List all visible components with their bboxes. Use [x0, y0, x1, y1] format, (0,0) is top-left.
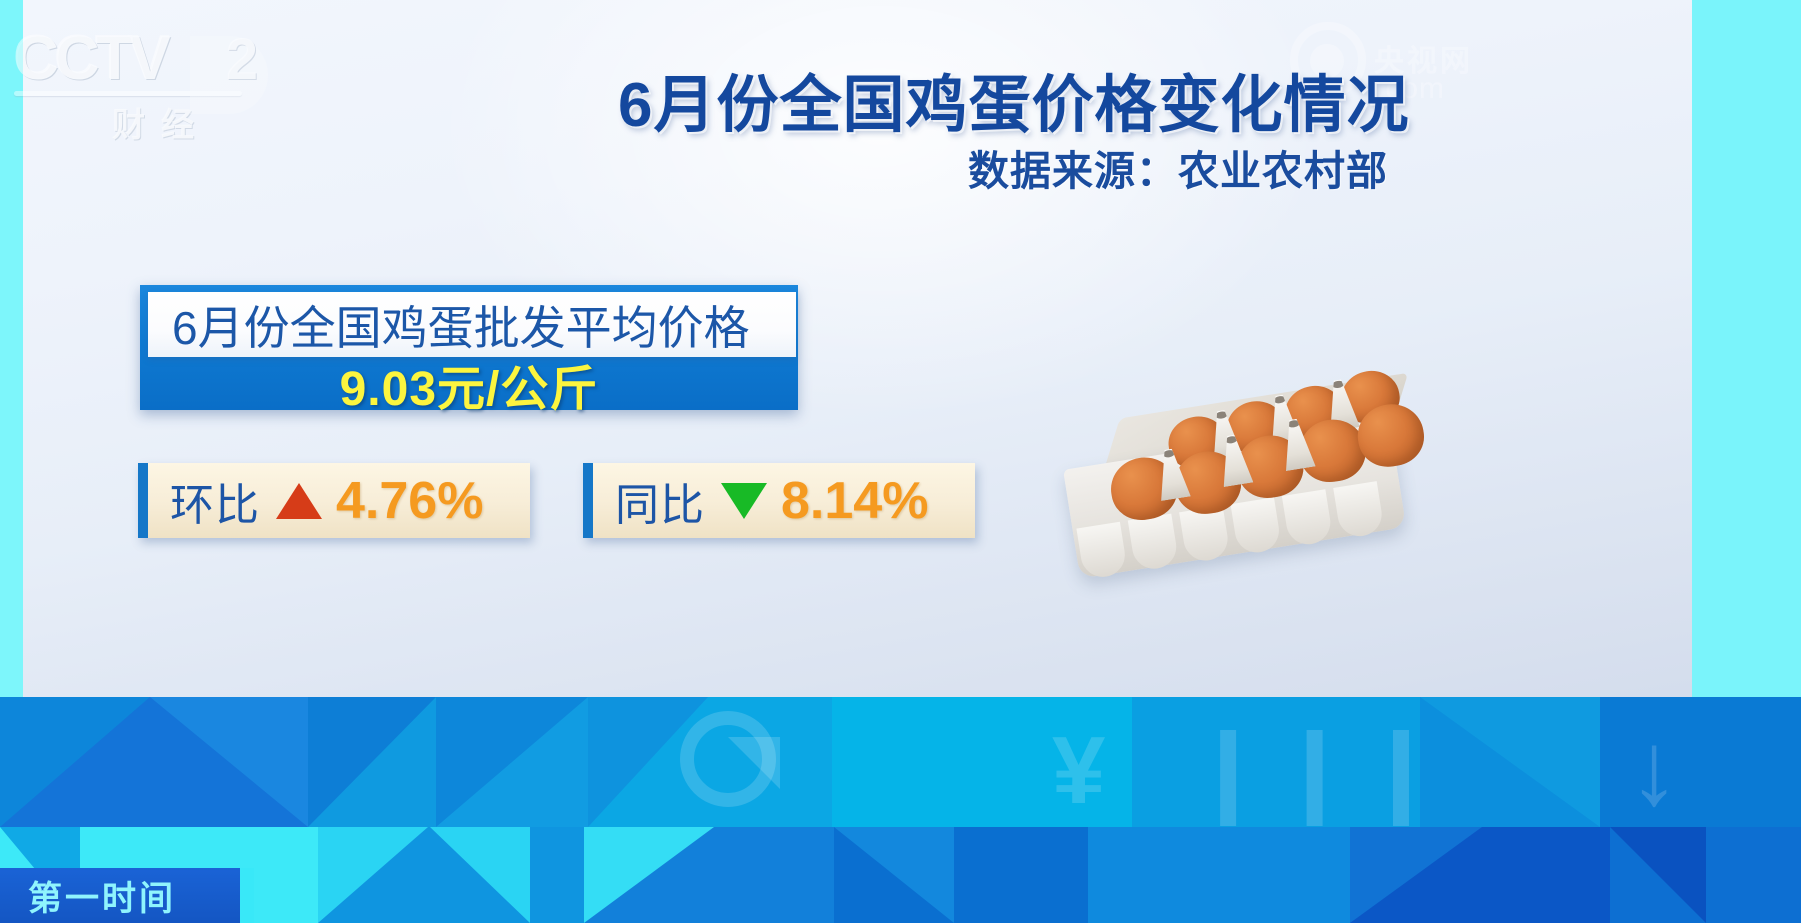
- banner-label-box: 6月份全国鸡蛋批发平均价格: [148, 292, 796, 357]
- program-badge-tab: [240, 868, 254, 923]
- egg-carton-photo: [1048, 315, 1418, 575]
- cctv-channel-number: 2: [226, 26, 258, 93]
- stat-value: 4.76%: [336, 471, 483, 531]
- triangle-up-icon: [276, 483, 322, 519]
- carton-scallop: [1282, 489, 1334, 547]
- program-name-badge: 第一时间: [0, 868, 240, 923]
- data-source-label: 数据来源：农业农村部: [968, 137, 1728, 197]
- carton-scallop: [1076, 522, 1128, 580]
- arrow-down-icon: ↓: [1628, 717, 1680, 821]
- carton-scallop: [1128, 514, 1180, 572]
- average-price-value: 9.03元/公斤: [340, 349, 599, 419]
- bar-chart-icon: ❙❙❙: [1188, 723, 1447, 819]
- stat-box-year-on-year: 同比 8.14%: [583, 463, 975, 538]
- band-triangle: [308, 697, 436, 827]
- bottom-decorative-band: ¥ ❙❙❙ ↓: [0, 697, 1801, 923]
- stat-label: 同比: [615, 469, 705, 533]
- band-triangle: [430, 827, 530, 923]
- carton-scallop: [1179, 505, 1231, 563]
- carton-group: [1054, 360, 1418, 591]
- band-triangle: [436, 697, 588, 827]
- stat-label: 环比: [170, 469, 260, 533]
- cctv2-finance-logo: CCTV 2 财经: [14, 30, 264, 148]
- band-triangle: [0, 697, 150, 827]
- band-triangle: [318, 827, 428, 923]
- band-lower-row: [0, 827, 1801, 923]
- banner-value-box: 9.03元/公斤: [140, 357, 798, 410]
- broadcast-graphic-stage: CCTV 2 财经 央视网 .com 6月份全国鸡蛋价格变化情况 数据来源：农业…: [0, 0, 1801, 923]
- band-triangle: [1610, 827, 1706, 923]
- band-triangle: [150, 697, 308, 827]
- band-upper-row: ¥ ❙❙❙ ↓: [0, 697, 1801, 827]
- band-triangle: [584, 827, 714, 923]
- band-block: [1088, 827, 1350, 923]
- yuan-symbol-icon: ¥: [1052, 723, 1105, 819]
- triangle-down-icon: [721, 483, 767, 519]
- carton-scallop: [1231, 497, 1283, 555]
- page-title: 6月份全国鸡蛋价格变化情况: [618, 54, 1718, 144]
- band-triangle: [834, 827, 954, 923]
- stat-value: 8.14%: [781, 471, 928, 531]
- stat-box-month-on-month: 环比 4.76%: [138, 463, 530, 538]
- program-name-text: 第一时间: [28, 871, 176, 920]
- price-banner: 6月份全国鸡蛋批发平均价格 9.03元/公斤: [140, 285, 798, 410]
- band-triangle: [1350, 827, 1482, 923]
- carton-scallop: [1333, 481, 1385, 539]
